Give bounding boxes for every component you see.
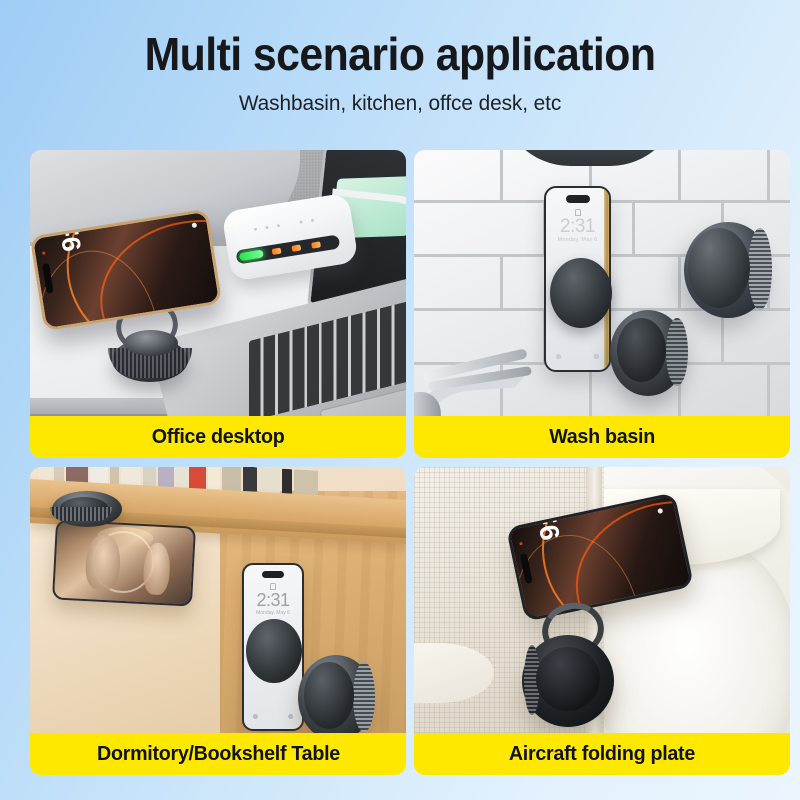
under-shelf-mount-knurling	[50, 507, 112, 521]
power-strip-led-panel	[235, 234, 340, 264]
lockscreen-shortcut-icons	[252, 712, 294, 721]
mount-knurled-rim	[524, 645, 540, 715]
caption-label: Dormitory/Bookshelf Table	[97, 742, 340, 766]
phone-date: Monday, May 6	[244, 610, 302, 616]
scenario-card-dormitory-bookshelf[interactable]: 2:31 Monday, May 6 Dormitory/Bookshelf T…	[30, 467, 406, 775]
caption-label: Aircraft folding plate	[509, 742, 695, 766]
usb-port-3	[311, 241, 321, 248]
scenario-card-aircraft-folding-plate[interactable]: 9:41 Aircraft folding plate	[414, 467, 790, 775]
magnetic-mount-base	[522, 635, 614, 727]
lock-icon	[270, 583, 276, 590]
camera-lens-icon	[519, 542, 523, 546]
wall-magnetic-mount	[298, 655, 374, 733]
wall-magnetic-mount-primary	[610, 310, 686, 396]
scene-aircraft: 9:41	[414, 467, 790, 733]
page-header: Multi scenario application Washbasin, ki…	[0, 0, 800, 116]
magnet-attached-to-phone	[246, 619, 302, 683]
mount-knurled-rim	[666, 318, 688, 386]
caption-bar-dormitory-bookshelf: Dormitory/Bookshelf Table	[30, 733, 406, 775]
caption-label: Office desktop	[152, 425, 285, 449]
chrome-faucet	[414, 350, 558, 416]
caption-bar-office-desktop: Office desktop	[30, 416, 406, 458]
scenario-card-wash-basin[interactable]: 2:31 Monday, May 6 Wash basin	[414, 150, 790, 458]
phone-date: Monday, May 6	[546, 237, 609, 243]
usb-port-1	[272, 248, 282, 255]
stand-magnet-cap	[124, 330, 178, 356]
scene-office-desktop: 9:41	[30, 150, 406, 416]
page-title: Multi scenario application	[28, 30, 772, 79]
scene-dormitory-bookshelf: 2:31 Monday, May 6	[30, 467, 406, 733]
caption-bar-wash-basin: Wash basin	[414, 416, 790, 458]
wall-magnetic-mount-secondary	[684, 222, 772, 318]
lockscreen-shortcut-icons	[555, 352, 600, 361]
page-subtitle: Washbasin, kitchen, offce desk, etc	[12, 91, 788, 116]
scenario-grid: 9:41 Office desktop 2:31 Monday, May 6	[30, 150, 770, 775]
mount-knurled-rim	[353, 662, 375, 732]
scenario-card-office-desktop[interactable]: 9:41 Office desktop	[30, 150, 406, 458]
usb-port-2	[291, 244, 301, 251]
phone-clock: 2:31	[244, 590, 302, 611]
lock-icon	[575, 209, 581, 216]
phone-clock: 2:31	[546, 216, 609, 238]
video-figure-1	[85, 533, 122, 591]
scene-wash-basin: 2:31 Monday, May 6	[414, 150, 790, 416]
mount-knurled-rim	[748, 228, 772, 310]
dynamic-island	[262, 571, 284, 578]
caption-bar-aircraft-folding-plate: Aircraft folding plate	[414, 733, 790, 775]
dynamic-island	[566, 195, 590, 203]
camera-lens-icon	[42, 251, 45, 254]
magnet-attached-to-phone	[550, 258, 612, 328]
phone-landscape-under-shelf	[52, 519, 196, 606]
caption-label: Wash basin	[549, 425, 655, 449]
power-led-indicator	[239, 249, 264, 261]
